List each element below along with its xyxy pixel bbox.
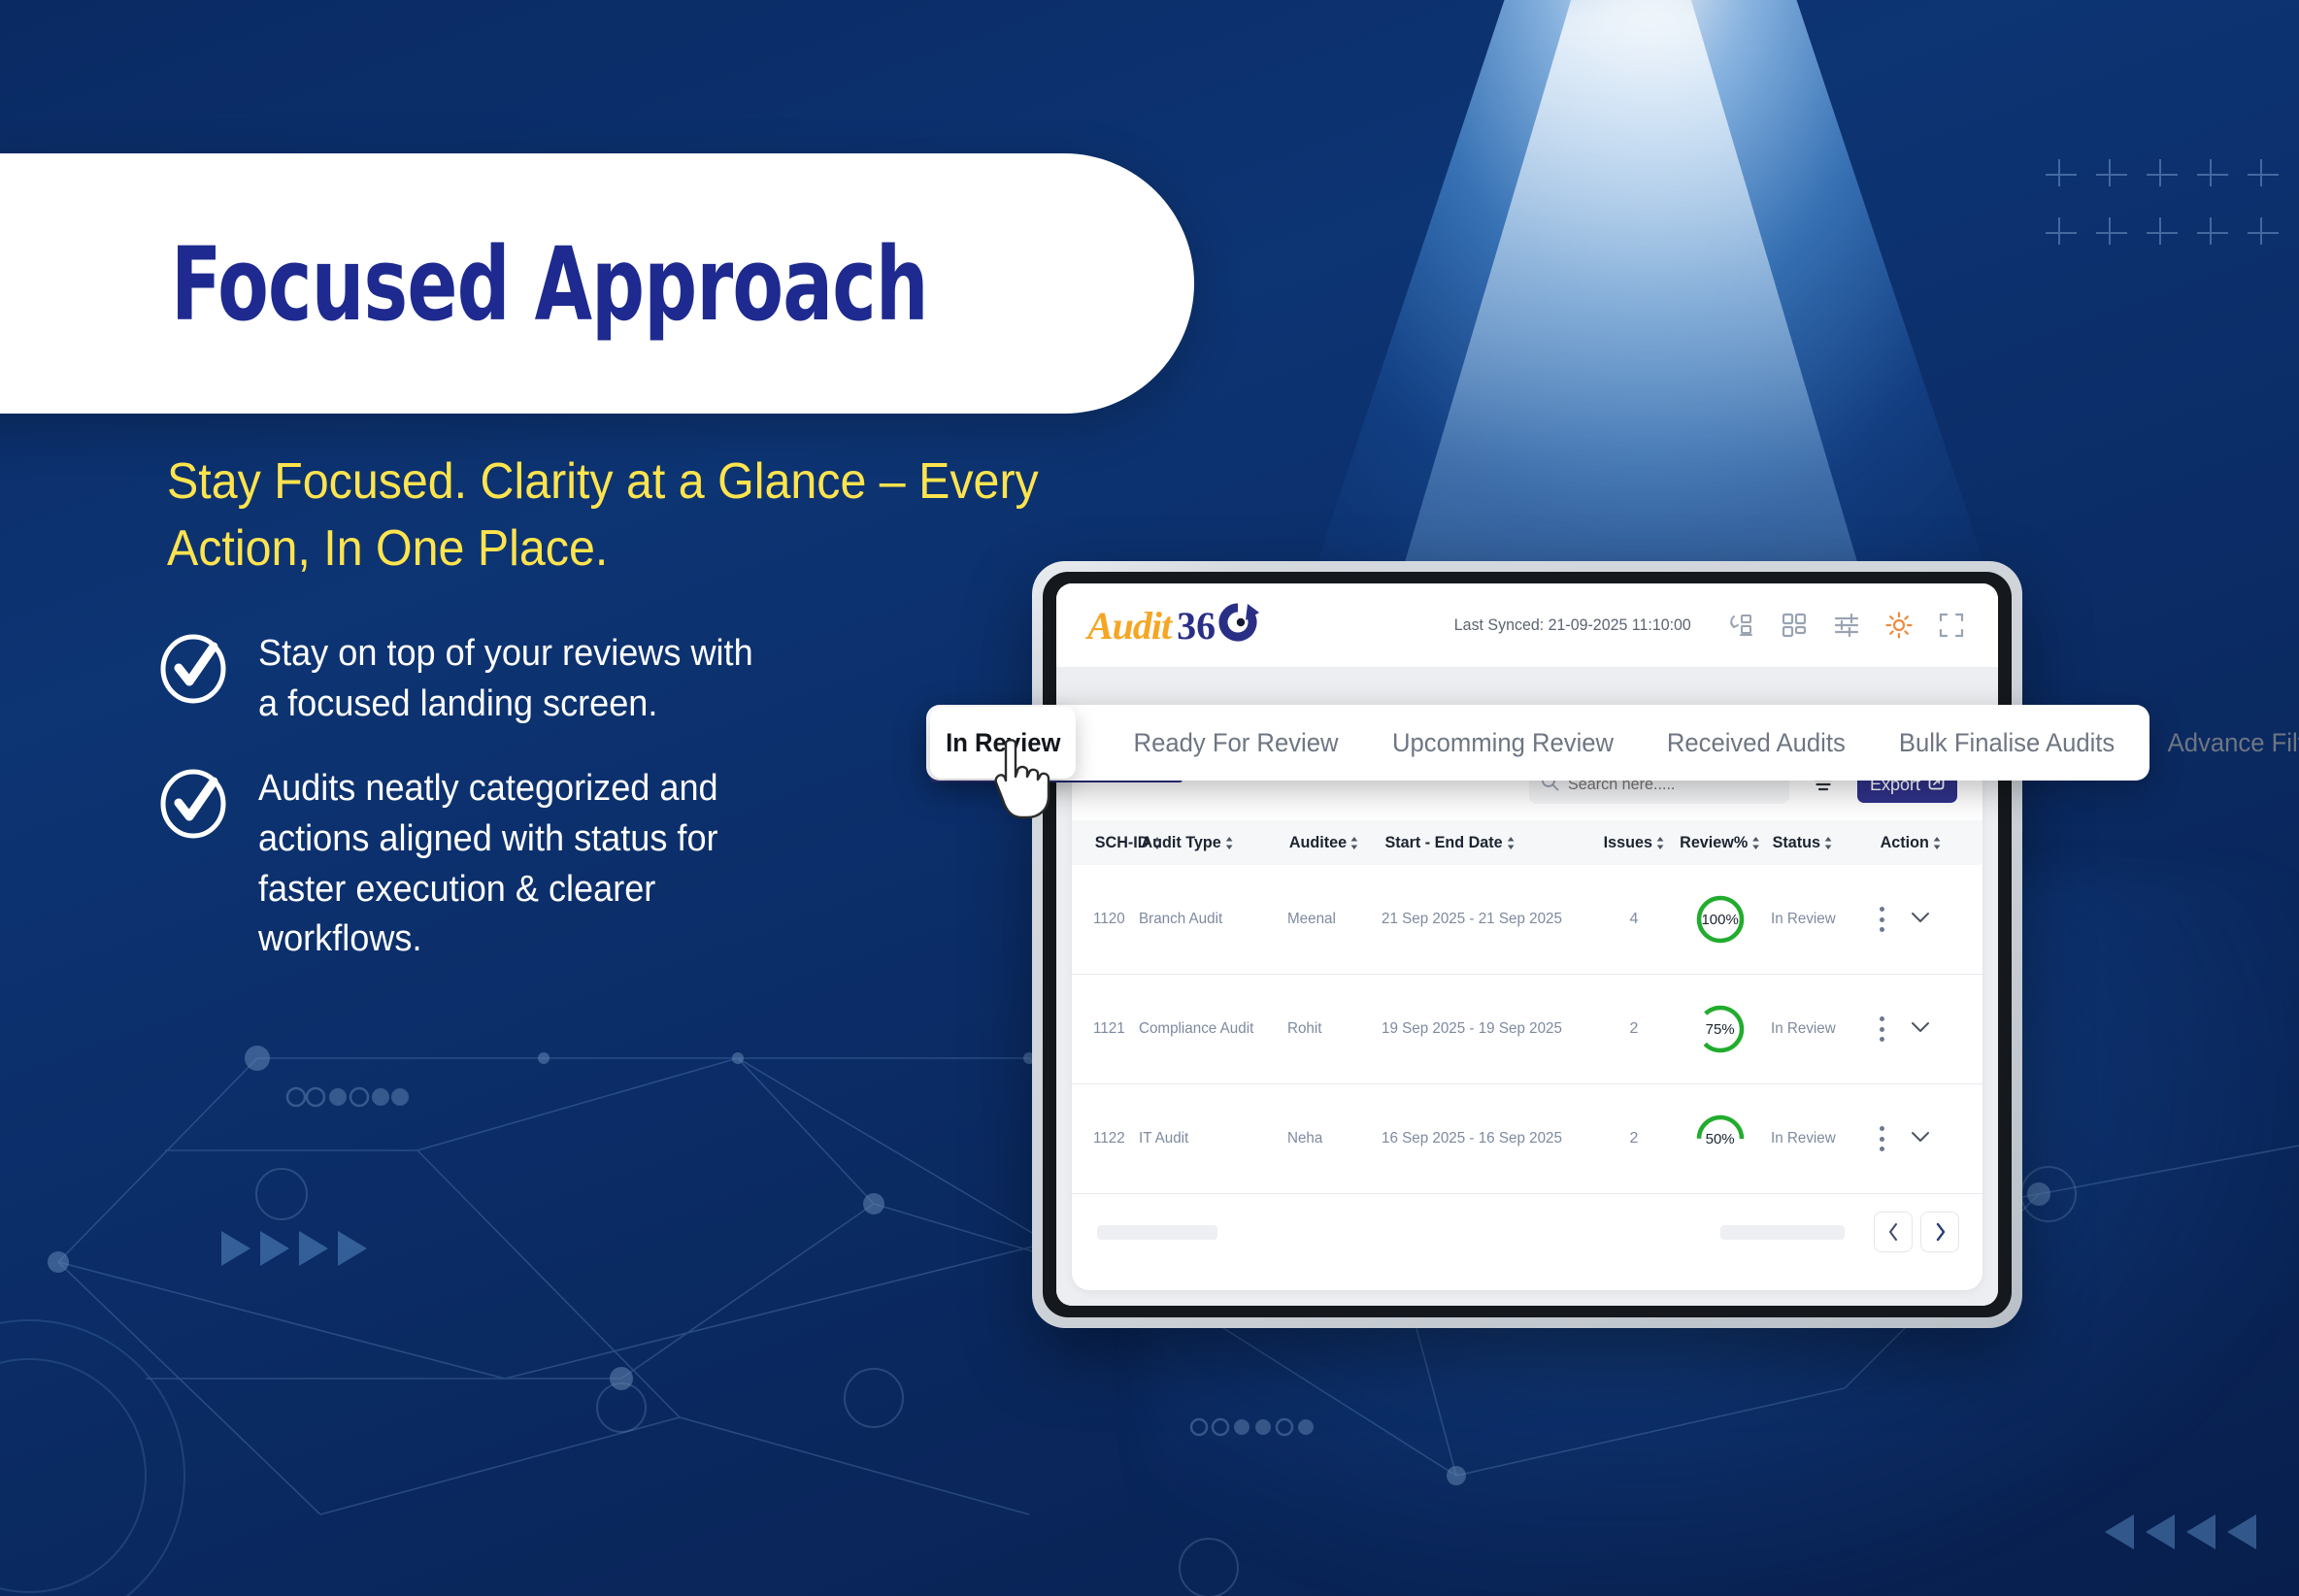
- cell-text: 1122: [1093, 1130, 1125, 1147]
- cell-text: 21 Sep 2025 - 21 Sep 2025: [1382, 911, 1562, 928]
- cell-text: Rohit: [1287, 1020, 1321, 1038]
- cell-date-range: 16 Sep 2025 - 16 Sep 2025: [1382, 1084, 1599, 1194]
- cell-text: 1120: [1093, 911, 1125, 928]
- cell-text: 2: [1629, 1130, 1638, 1147]
- table-row[interactable]: 1122 IT Audit Neha 16 Sep 2025 - 16 Sep …: [1072, 1084, 1982, 1194]
- last-synced-label: Last Synced: 21-09-2025 11:10:00: [1454, 615, 1691, 635]
- mouse-cursor-pointer: [992, 738, 1056, 826]
- page-size-placeholder: [1720, 1225, 1845, 1240]
- column-label: Start - End Date: [1384, 833, 1502, 852]
- tab-upcomming-review[interactable]: Upcomming Review: [1372, 728, 1634, 758]
- review-progress-ring: 75%: [1695, 1004, 1746, 1054]
- cell-action: [1879, 865, 1982, 975]
- review-progress-ring: 50%: [1695, 1114, 1746, 1164]
- benefit-text: Audits neatly categorized and actions al…: [258, 764, 718, 965]
- column-header-audit-type[interactable]: Audit Type: [1139, 820, 1287, 865]
- benefits-list: Stay on top of your reviews with a focus…: [155, 629, 1029, 1000]
- row-menu-icon[interactable]: [1879, 1126, 1884, 1151]
- check-circle-icon: [155, 766, 231, 842]
- chevron-down-icon[interactable]: [1910, 1020, 1931, 1039]
- app-body: Export: [1056, 731, 1998, 1306]
- table-body: 1120 Branch Audit Meenal 21 Sep 2025 - 2…: [1072, 865, 1982, 1194]
- app-logo[interactable]: Audit 36: [1087, 602, 1260, 649]
- cell-text: 1121: [1093, 1020, 1125, 1038]
- cell-audit-type: IT Audit: [1139, 1084, 1287, 1194]
- cell-audit-type: Compliance Audit: [1139, 975, 1287, 1084]
- pagination-bar: [1072, 1194, 1982, 1270]
- cell-action: [1879, 975, 1982, 1084]
- cell-review-pct: 75%: [1669, 975, 1771, 1084]
- tablet-device: Audit 36 Last Synced: 21-09-2025 11:10:0…: [1032, 561, 2022, 1328]
- review-pct-label: 50%: [1695, 1114, 1746, 1164]
- sync-transfer-icon[interactable]: [1728, 612, 1755, 639]
- tab-received-audits[interactable]: Received Audits: [1647, 728, 1866, 758]
- cell-text: 4: [1629, 911, 1638, 927]
- cell-text: 16 Sep 2025 - 16 Sep 2025: [1382, 1130, 1562, 1147]
- header-icon-group: [1728, 612, 1965, 639]
- settings-sliders-icon[interactable]: [1833, 612, 1860, 639]
- audits-table: SCH-ID Audit Type Auditee: [1072, 820, 1982, 1194]
- chevron-right-icon: [1934, 1222, 1947, 1242]
- cell-date-range: 21 Sep 2025 - 21 Sep 2025: [1382, 865, 1599, 975]
- column-header-status[interactable]: Status: [1771, 820, 1879, 865]
- cell-sch-id: 1120: [1072, 865, 1139, 975]
- cell-status: In Review: [1771, 1084, 1879, 1194]
- sort-arrows-icon: [1933, 836, 1942, 850]
- fullscreen-expand-icon[interactable]: [1938, 612, 1965, 639]
- cell-audit-type: Branch Audit: [1139, 865, 1287, 975]
- column-label: Status: [1773, 833, 1820, 852]
- table-header: SCH-ID Audit Type Auditee: [1072, 820, 1982, 865]
- tablet-bezel: Audit 36 Last Synced: 21-09-2025 11:10:0…: [1043, 572, 2012, 1317]
- cell-auditee: Meenal: [1287, 865, 1382, 975]
- cell-status: In Review: [1771, 975, 1879, 1084]
- cell-status: In Review: [1771, 865, 1879, 975]
- logo-word: Audit: [1087, 603, 1171, 648]
- sort-arrows-icon: [1751, 836, 1760, 850]
- table-row[interactable]: 1120 Branch Audit Meenal 21 Sep 2025 - 2…: [1072, 865, 1982, 975]
- cell-text: Meenal: [1287, 911, 1336, 928]
- logo-number: 36: [1177, 603, 1216, 648]
- tab-bulk-finalise-audits[interactable]: Bulk Finalise Audits: [1879, 728, 2135, 758]
- tab-bar: Ready For Review Upcomming Review Receiv…: [926, 705, 2149, 781]
- cell-auditee: Neha: [1287, 1084, 1382, 1194]
- status-badge: In Review: [1771, 1130, 1836, 1147]
- theme-sun-icon[interactable]: [1885, 612, 1913, 639]
- column-label: Action: [1881, 833, 1929, 852]
- page-title: Focused Approach: [171, 225, 928, 344]
- cell-text: 19 Sep 2025 - 19 Sep 2025: [1382, 1020, 1562, 1038]
- column-header-auditee[interactable]: Auditee: [1287, 820, 1382, 865]
- cell-sch-id: 1122: [1072, 1084, 1139, 1194]
- column-header-review-pct[interactable]: Review%: [1669, 820, 1771, 865]
- page-subtitle: Stay Focused. Clarity at a Glance – Ever…: [167, 449, 1070, 582]
- tab-ready-for-review[interactable]: Ready For Review: [1114, 728, 1359, 758]
- cell-text: Neha: [1287, 1130, 1322, 1147]
- cell-action: [1879, 1084, 1982, 1194]
- plus-pattern-decoration: [2034, 146, 2286, 262]
- column-header-start-end-date[interactable]: Start - End Date: [1382, 820, 1599, 865]
- column-header-action[interactable]: Action: [1879, 820, 1982, 865]
- circular-arrow-eye-icon: [1216, 602, 1260, 649]
- cell-text: Branch Audit: [1139, 911, 1222, 928]
- app-screen: Audit 36 Last Synced: 21-09-2025 11:10:0…: [1056, 583, 1998, 1306]
- chevron-left-icon: [1887, 1222, 1900, 1242]
- column-header-issues[interactable]: Issues: [1599, 820, 1670, 865]
- chevron-down-icon[interactable]: [1910, 1130, 1931, 1148]
- cell-text: 2: [1629, 1020, 1638, 1037]
- sort-arrows-icon: [1506, 836, 1515, 850]
- chevron-down-icon[interactable]: [1910, 911, 1931, 929]
- header-right: Last Synced: 21-09-2025 11:10:00: [1447, 612, 1965, 639]
- cell-issues: 2: [1599, 975, 1670, 1084]
- column-label: Issues: [1604, 833, 1652, 852]
- row-menu-icon[interactable]: [1879, 907, 1884, 932]
- review-pct-label: 100%: [1695, 894, 1746, 945]
- column-label: Auditee: [1289, 833, 1347, 852]
- pagination-next-button[interactable]: [1920, 1212, 1959, 1252]
- tab-advance-filters[interactable]: Advance Filters: [2148, 728, 2299, 758]
- column-label: Audit Type: [1141, 833, 1220, 852]
- audits-card: Export: [1072, 748, 1982, 1290]
- status-badge: In Review: [1771, 1020, 1836, 1038]
- table-header-row: SCH-ID Audit Type Auditee: [1072, 820, 1982, 865]
- sort-arrows-icon: [1350, 836, 1359, 850]
- row-menu-icon[interactable]: [1879, 1016, 1884, 1042]
- review-progress-ring: 100%: [1695, 894, 1746, 945]
- app-header: Audit 36 Last Synced: 21-09-2025 11:10:0…: [1056, 583, 1998, 667]
- dashboard-grid-icon[interactable]: [1781, 612, 1808, 639]
- pagination-info-placeholder: [1097, 1225, 1217, 1240]
- status-badge: In Review: [1771, 911, 1836, 928]
- table-row[interactable]: 1121 Compliance Audit Rohit 19 Sep 2025 …: [1072, 975, 1982, 1084]
- sort-arrows-icon: [1656, 836, 1665, 850]
- benefit-text: Stay on top of your reviews with a focus…: [258, 629, 753, 729]
- cell-auditee: Rohit: [1287, 975, 1382, 1084]
- sort-arrows-icon: [1824, 836, 1833, 850]
- cell-issues: 2: [1599, 1084, 1670, 1194]
- cell-issues: 4: [1599, 865, 1670, 975]
- column-label: Review%: [1680, 833, 1748, 852]
- review-pct-label: 75%: [1695, 1004, 1746, 1054]
- list-item: Audits neatly categorized and actions al…: [155, 764, 1029, 965]
- check-circle-icon: [155, 631, 231, 707]
- cell-sch-id: 1121: [1072, 975, 1139, 1084]
- pagination-prev-button[interactable]: [1874, 1212, 1913, 1252]
- cell-text: IT Audit: [1139, 1130, 1188, 1147]
- cell-date-range: 19 Sep 2025 - 19 Sep 2025: [1382, 975, 1599, 1084]
- list-item: Stay on top of your reviews with a focus…: [155, 629, 1029, 729]
- cell-review-pct: 100%: [1669, 865, 1771, 975]
- column-header-sch-id[interactable]: SCH-ID: [1072, 820, 1139, 865]
- cell-text: Compliance Audit: [1139, 1020, 1253, 1038]
- sort-arrows-icon: [1224, 836, 1233, 850]
- cell-review-pct: 50%: [1669, 1084, 1771, 1194]
